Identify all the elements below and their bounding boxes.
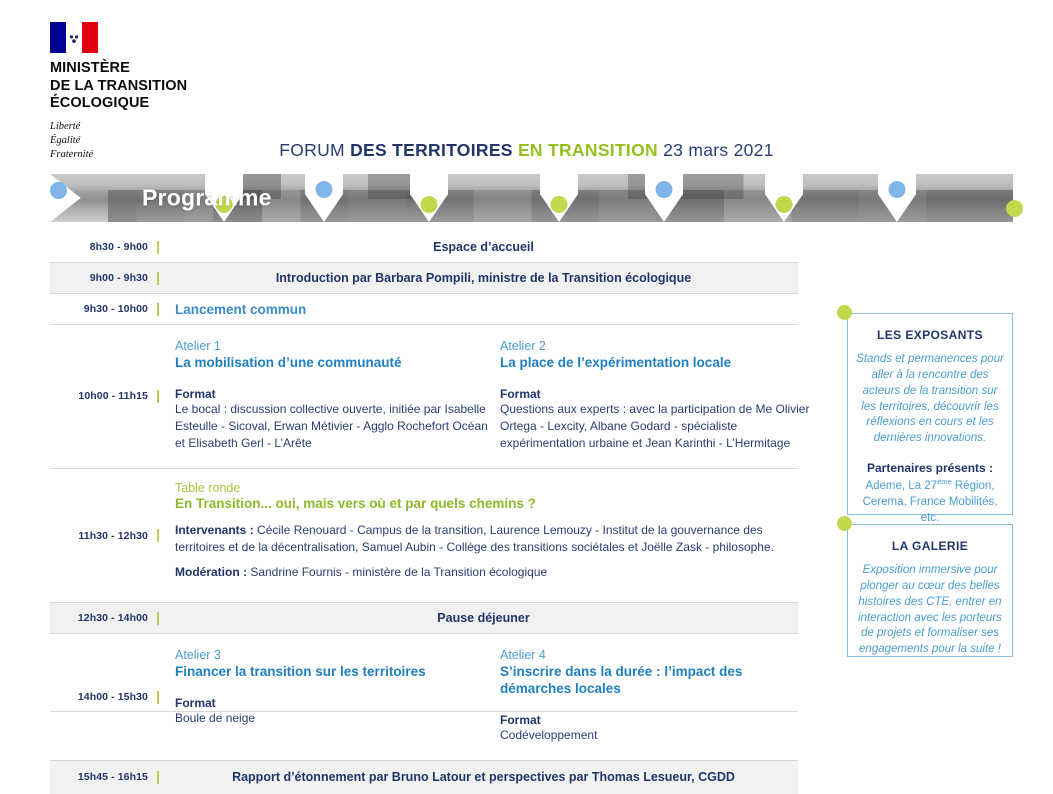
map-pin-icon-4: [540, 174, 578, 222]
partner-list-sup: ème: [937, 477, 952, 486]
intervenants-label: Intervenants :: [175, 523, 254, 537]
schedule-row-introduction: 9h00 - 9h30 Introduction par Barbara Pom…: [50, 263, 798, 294]
schedule-row-lancement: 9h30 - 10h00 Lancement commun: [50, 294, 798, 325]
table-ronde-card: Table ronde En Transition... oui, mais v…: [175, 469, 792, 602]
time-cell: 10h00 - 11h15: [50, 325, 148, 468]
row-content: Lancement commun: [169, 302, 798, 317]
schedule-row-accueil: 8h30 - 9h00 Espace d’accueil: [50, 232, 798, 263]
corner-dot-icon: [837, 516, 852, 531]
time-separator: [157, 771, 159, 784]
format-label: Format: [500, 387, 813, 401]
banner-dot-left-blue-icon: [50, 182, 67, 199]
schedule-row-ateliers-3-4: 14h00 - 15h30 Atelier 3 Financer la tran…: [50, 634, 798, 761]
atelier-card-1: Atelier 1 La mobilisation d’une communau…: [175, 339, 500, 452]
time-separator: [157, 303, 159, 316]
bottom-divider: [50, 711, 798, 712]
row-time: 8h30 - 9h00: [90, 241, 148, 253]
side-box-title: LA GALERIE: [848, 539, 1012, 553]
row-content: Atelier 1 La mobilisation d’une communau…: [169, 325, 831, 468]
time-cell: 11h30 - 12h30: [50, 469, 148, 602]
side-box-partner-list: Ademe, La 27ème Région, Cerema, France M…: [848, 477, 1012, 526]
time-cell: 14h00 - 15h30: [50, 634, 148, 760]
time-cell: 12h30 - 14h00: [50, 612, 148, 624]
row-content: Atelier 3 Financer la transition sur les…: [169, 634, 831, 760]
moderation-body: Sandrine Fournis - ministère de la Trans…: [247, 565, 547, 579]
side-box-title: LES EXPOSANTS: [848, 328, 1012, 342]
moderation-line: Modération : Sandrine Fournis - ministèr…: [175, 564, 792, 581]
side-box-galerie: LA GALERIE Exposition immersive pour plo…: [847, 524, 1013, 657]
time-cell: 15h45 - 16h15: [50, 771, 148, 783]
row-time: 15h45 - 16h15: [78, 771, 148, 783]
schedule-row-rapport: 15h45 - 16h15 Rapport d’étonnement par B…: [50, 761, 798, 794]
corner-dot-icon: [837, 305, 852, 320]
intervenants-body: Cécile Renouard - Campus de la transitio…: [175, 523, 774, 554]
atelier-card-2: Atelier 2 La place de l’expérimentation …: [500, 339, 825, 452]
table-ronde-kicker: Table ronde: [175, 481, 792, 495]
format-body: Questions aux experts : avec la particip…: [500, 401, 813, 452]
atelier-card-3: Atelier 3 Financer la transition sur les…: [175, 648, 500, 744]
map-pin-icon-6: [765, 174, 803, 222]
row-content: Espace d’accueil: [169, 240, 798, 254]
programme-banner: Programme: [50, 174, 1013, 222]
atelier-title: Financer la transition sur les territoir…: [175, 664, 488, 681]
ministry-line-1: MINISTÈRE: [50, 60, 280, 78]
atelier-kicker: Atelier 2: [500, 339, 813, 353]
title-des-territoires: DES TERRITOIRES: [350, 140, 518, 160]
map-pin-icon-2: [305, 174, 343, 222]
side-box-exposants: LES EXPOSANTS Stands et permanences pour…: [847, 313, 1013, 515]
ateliers-columns: Atelier 1 La mobilisation d’une communau…: [175, 325, 825, 468]
page-title: FORUM DES TERRITOIRES EN TRANSITION 23 m…: [0, 140, 1053, 161]
title-forum: FORUM: [279, 140, 350, 160]
format-body: Codéveloppement: [500, 727, 813, 744]
row-content: Rapport d’étonnement par Bruno Latour et…: [169, 770, 798, 784]
side-box-body: Exposition immersive pour plonger au cœu…: [848, 563, 1012, 658]
row-content: Table ronde En Transition... oui, mais v…: [169, 469, 798, 602]
motto-liberte: Liberté: [50, 120, 280, 134]
time-separator: [157, 390, 159, 403]
row-time: 10h00 - 11h15: [78, 390, 148, 402]
map-pin-icon-7: [878, 174, 916, 222]
ministry-name: MINISTÈRE DE LA TRANSITION ÉCOLOGIQUE: [50, 60, 280, 113]
schedule-row-pause-dejeuner: 12h30 - 14h00 Pause déjeuner: [50, 603, 798, 634]
time-separator: [157, 272, 159, 285]
atelier-card-4: Atelier 4 S’inscrire dans la durée : l’i…: [500, 648, 825, 744]
row-label: Espace d’accueil: [175, 240, 792, 254]
intervenants-line: Intervenants : Cécile Renouard - Campus …: [175, 522, 792, 557]
row-label: Pause déjeuner: [175, 611, 792, 625]
programme-schedule: 8h30 - 9h00 Espace d’accueil 9h00 - 9h30…: [50, 232, 798, 794]
ministry-line-2: DE LA TRANSITION: [50, 78, 280, 96]
row-label: Rapport d’étonnement par Bruno Latour et…: [175, 770, 792, 784]
row-label: Introduction par Barbara Pompili, minist…: [175, 271, 792, 285]
map-pin-icon-3: [410, 174, 448, 222]
format-label: Format: [175, 696, 488, 710]
format-body: Boule de neige: [175, 710, 488, 727]
map-pin-icon-5: [645, 174, 683, 222]
row-content: Pause déjeuner: [169, 611, 798, 625]
atelier-kicker: Atelier 4: [500, 648, 813, 662]
moderation-label: Modération :: [175, 565, 247, 579]
row-time: 9h30 - 10h00: [84, 303, 148, 315]
row-time: 9h00 - 9h30: [90, 272, 148, 284]
time-cell: 9h00 - 9h30: [50, 272, 148, 284]
format-label: Format: [500, 713, 813, 727]
title-date: 23 mars 2021: [663, 140, 774, 160]
atelier-title: S’inscrire dans la durée : l’impact des …: [500, 664, 813, 698]
time-separator: [157, 612, 159, 625]
schedule-row-ateliers-1-2: 10h00 - 11h15 Atelier 1 La mobilisation …: [50, 325, 798, 469]
ministry-line-3: ÉCOLOGIQUE: [50, 95, 280, 113]
row-time: 14h00 - 15h30: [78, 691, 148, 703]
banner-dot-right-green-icon: [1006, 200, 1023, 217]
ateliers-columns: Atelier 3 Financer la transition sur les…: [175, 634, 825, 760]
time-cell: 8h30 - 9h00: [50, 241, 148, 253]
row-time: 12h30 - 14h00: [78, 612, 148, 624]
row-content: Introduction par Barbara Pompili, minist…: [169, 271, 798, 285]
partner-list-pre: Ademe, La 27: [865, 480, 937, 492]
french-flag-icon: [50, 22, 98, 53]
atelier-kicker: Atelier 3: [175, 648, 488, 662]
time-cell: 9h30 - 10h00: [50, 303, 148, 315]
format-body: Le bocal : discussion collective ouverte…: [175, 401, 488, 452]
title-en-transition: EN TRANSITION: [518, 140, 663, 160]
schedule-row-table-ronde: 11h30 - 12h30 Table ronde En Transition.…: [50, 469, 798, 603]
row-label: Lancement commun: [175, 302, 792, 317]
row-time: 11h30 - 12h30: [78, 530, 148, 542]
side-box-subtitle: Partenaires présents :: [848, 461, 1012, 475]
side-box-body: Stands et permanences pour aller à la re…: [848, 352, 1012, 447]
time-separator: [157, 241, 159, 254]
table-ronde-title: En Transition... oui, mais vers où et pa…: [175, 496, 792, 511]
atelier-title: La place de l’expérimentation locale: [500, 355, 813, 372]
atelier-kicker: Atelier 1: [175, 339, 488, 353]
banner-label: Programme: [142, 185, 272, 212]
format-label: Format: [175, 387, 488, 401]
time-separator: [157, 691, 159, 704]
atelier-title: La mobilisation d’une communauté: [175, 355, 488, 372]
time-separator: [157, 529, 159, 542]
